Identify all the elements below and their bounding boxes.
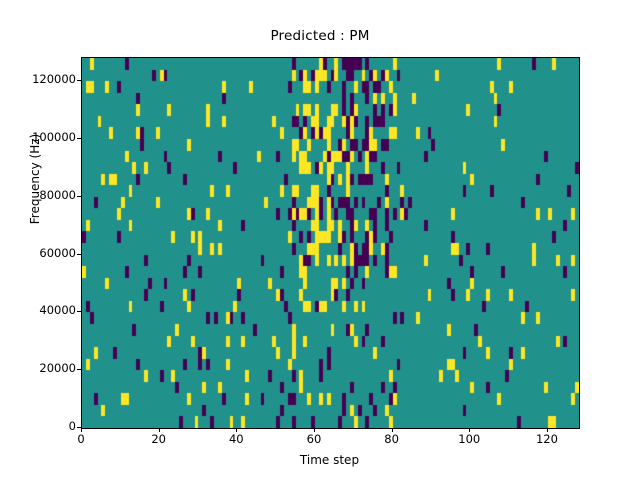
heatmap-image (82, 58, 579, 428)
y-tick-mark (77, 427, 81, 428)
x-tick-mark (159, 428, 160, 432)
y-tick-mark (77, 369, 81, 370)
y-tick-label: 0 (4, 419, 76, 433)
y-tick-mark (77, 311, 81, 312)
x-tick-label: 80 (362, 432, 422, 446)
x-tick-label: 100 (439, 432, 499, 446)
x-tick-mark (469, 428, 470, 432)
x-tick-label: 60 (284, 432, 344, 446)
x-tick-mark (314, 428, 315, 432)
x-axis-label: Time step (81, 453, 578, 467)
x-tick-label: 40 (206, 432, 266, 446)
y-tick-mark (77, 80, 81, 81)
chart-title: Predicted : PM (0, 28, 640, 44)
x-tick-label: 0 (51, 432, 111, 446)
x-tick-mark (392, 428, 393, 432)
x-tick-mark (81, 428, 82, 432)
x-tick-mark (236, 428, 237, 432)
figure-canvas: Predicted : PM 0204060801001200200004000… (0, 0, 640, 480)
y-tick-mark (77, 138, 81, 139)
x-tick-label: 120 (517, 432, 577, 446)
y-axis-label: Frequency (Hz) (28, 49, 42, 309)
x-tick-label: 20 (129, 432, 189, 446)
y-tick-mark (77, 196, 81, 197)
y-tick-label: 20000 (4, 361, 76, 375)
y-tick-mark (77, 254, 81, 255)
heatmap-axes[interactable] (81, 57, 580, 429)
x-tick-mark (547, 428, 548, 432)
